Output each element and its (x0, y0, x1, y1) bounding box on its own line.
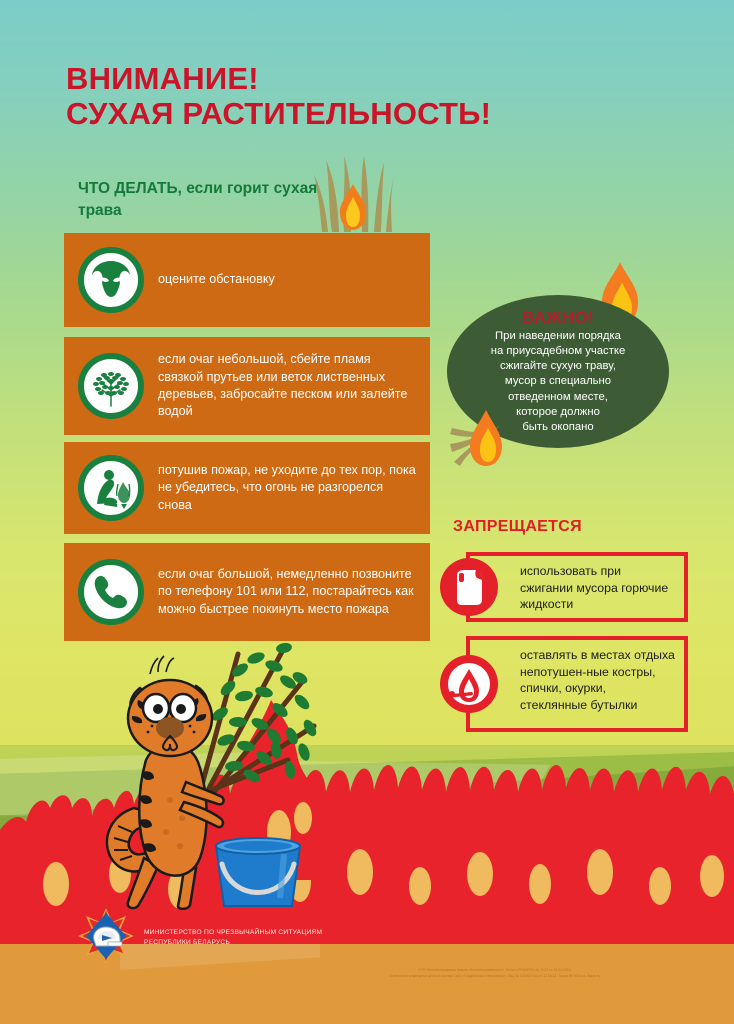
leafy-tree-icon (78, 353, 144, 419)
mask-eyes-icon (78, 247, 144, 313)
imprint-text: РУП «Белтипографская фирма «Белтипографп… (260, 968, 730, 980)
page-title: ВНИМАНИЕ! СУХАЯ РАСТИТЕЛЬНОСТЬ! (66, 62, 491, 131)
jerrycan-icon (440, 558, 498, 616)
forbidden-card-1: использовать при сжигании мусора горючие… (466, 552, 688, 622)
important-title: ВАЖНО! (522, 308, 594, 328)
howto-card-text: оцените обстановку (158, 271, 287, 288)
mchs-star-emblem-icon (78, 908, 134, 964)
orange-flame-with-grass-icon (450, 388, 526, 468)
howto-card-3: потушив пожар, не уходите до тех пор, по… (64, 442, 430, 534)
telephone-handset-icon (78, 559, 144, 625)
ministry-line-1: МИНИСТЕРСТВО ПО ЧРЕЗВЫЧАЙНЫМ СИТУАЦИЯМ (144, 928, 322, 938)
headline-line-1: ВНИМАНИЕ! (66, 62, 491, 97)
forbidden-card-text: оставлять в местах отдыха непотушен-ные … (470, 640, 684, 720)
imprint-line-2: Отпечатано в арендных цехах в составе ОА… (260, 974, 730, 980)
forbidden-section-heading: ЗАПРЕЩАЕТСЯ (453, 518, 582, 536)
cartoon-cat-with-branches-icon (88, 640, 348, 910)
important-body-line: При наведении порядка (491, 329, 625, 344)
howto-card-text: потушив пожар, не уходите до тех пор, по… (158, 462, 430, 514)
howto-section-heading: ЧТО ДЕЛАТЬ, если горит сухая трава (78, 178, 358, 223)
ministry-name: МИНИСТЕРСТВО ПО ЧРЕЗВЫЧАЙНЫМ СИТУАЦИЯМ Р… (144, 928, 322, 948)
forbidden-card-2: оставлять в местах отдыха непотушен-ные … (466, 636, 688, 732)
poster-canvas: ВНИМАНИЕ! СУХАЯ РАСТИТЕЛЬНОСТЬ! ЧТО ДЕЛА… (0, 0, 734, 1024)
howto-card-2: если очаг небольшой, сбейте пламя связко… (64, 337, 430, 435)
ministry-line-2: РЕСПУБЛИКИ БЕЛАРУСЬ (144, 938, 322, 948)
important-body-line: сжигайте сухую траву, (491, 359, 625, 374)
important-body-line: на приусадебном участке (491, 344, 625, 359)
howto-card-1: оцените обстановку (64, 233, 430, 327)
forbidden-card-text: использовать при сжигании мусора горючие… (470, 556, 684, 620)
howto-card-text: если очаг большой, немедленно позвоните … (158, 566, 430, 618)
headline-line-2: СУХАЯ РАСТИТЕЛЬНОСТЬ! (66, 97, 491, 132)
person-extinguishing-fire-icon (78, 455, 144, 521)
howto-card-4: если очаг большой, немедленно позвоните … (64, 543, 430, 641)
match-flame-icon (440, 655, 498, 713)
howto-card-text: если очаг небольшой, сбейте пламя связко… (158, 351, 430, 421)
